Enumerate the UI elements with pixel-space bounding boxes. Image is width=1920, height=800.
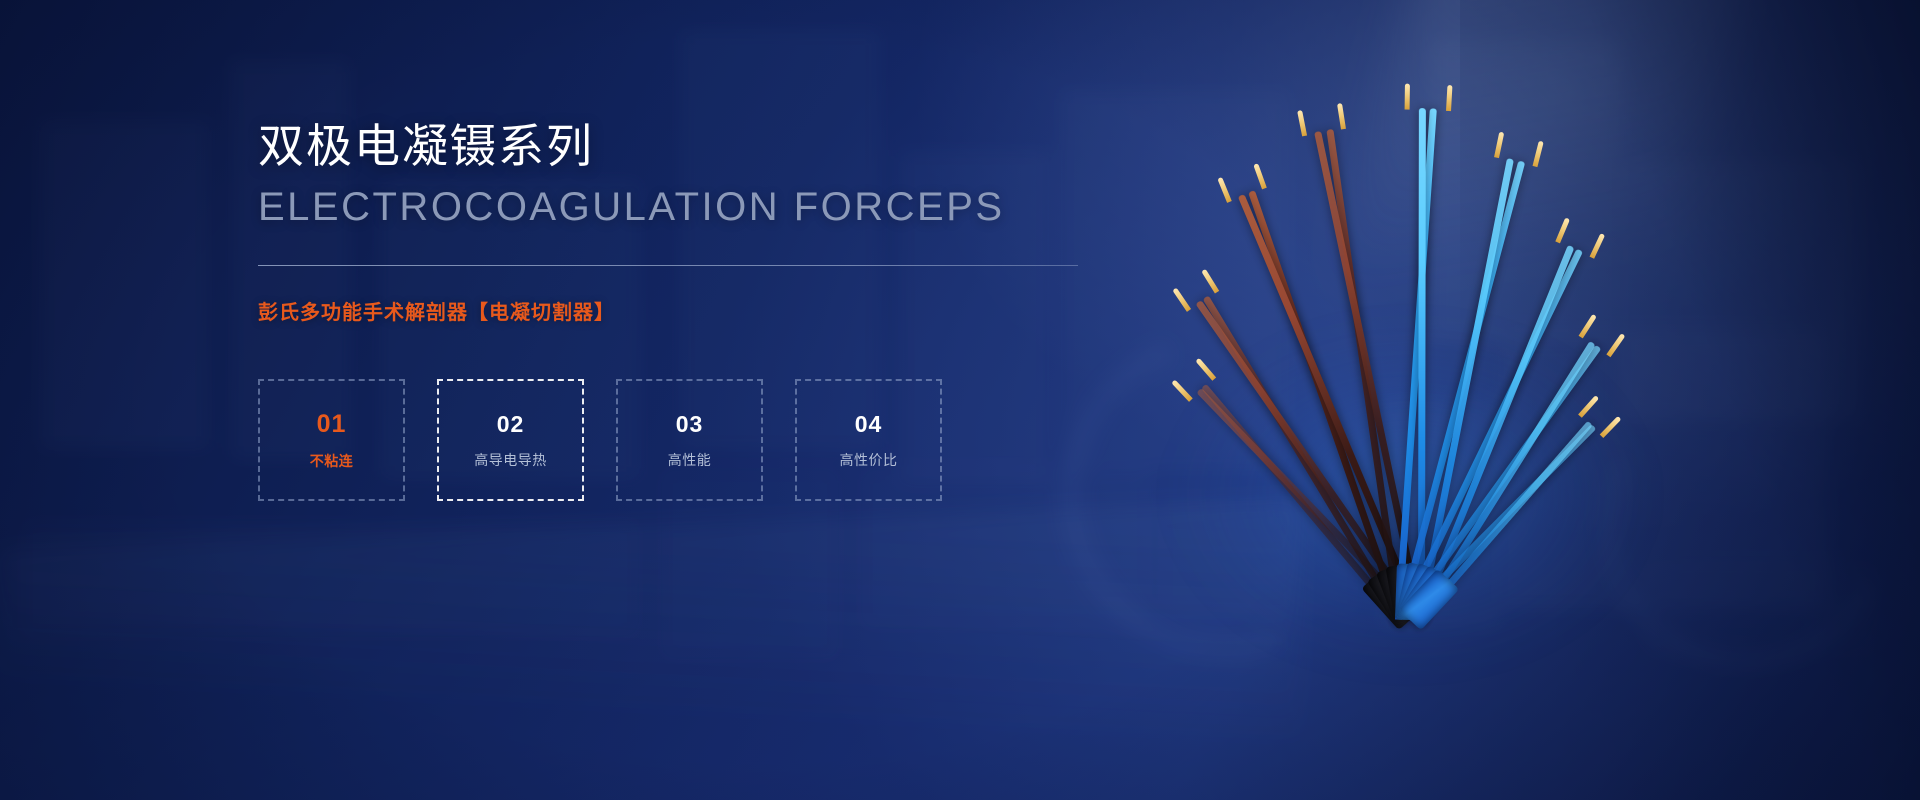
forceps-gold-tip [1555, 217, 1570, 243]
forceps-product-image [1130, 60, 1690, 620]
feature-card-02[interactable]: 02高导电导热 [437, 379, 584, 501]
forceps-gold-tip [1217, 177, 1231, 203]
forceps-gold-tip [1171, 379, 1192, 401]
page-title: 双极电凝镊系列 [258, 118, 1088, 174]
banner-content: 双极电凝镊系列 ELECTROCOAGULATION FORCEPS 彭氏多功能… [258, 118, 1088, 501]
feature-number: 02 [497, 413, 525, 436]
forceps-gold-tip [1172, 288, 1191, 312]
forceps-gold-tip [1579, 314, 1597, 339]
forceps-gold-tip [1201, 269, 1219, 294]
forceps-gold-tip [1446, 85, 1452, 111]
forceps-gold-tip [1600, 416, 1622, 438]
feature-label: 高性能 [668, 453, 712, 467]
forceps-gold-tip [1578, 395, 1599, 418]
feature-card-03[interactable]: 03高性能 [616, 379, 763, 501]
page-subtitle-en: ELECTROCOAGULATION FORCEPS [258, 184, 1088, 231]
title-divider [258, 265, 1078, 266]
product-banner: 双极电凝镊系列 ELECTROCOAGULATION FORCEPS 彭氏多功能… [0, 0, 1920, 800]
forceps-gold-tip [1590, 233, 1606, 259]
forceps-gold-tip [1337, 103, 1346, 129]
feature-number: 03 [676, 413, 704, 436]
feature-label: 高性价比 [840, 453, 898, 467]
feature-number: 01 [317, 412, 347, 437]
feature-card-01[interactable]: 01不粘连 [258, 379, 405, 501]
feature-card-04[interactable]: 04高性价比 [795, 379, 942, 501]
forceps-gold-tip [1253, 163, 1267, 189]
feature-number: 04 [855, 413, 883, 436]
forceps-gold-tip [1606, 333, 1625, 357]
forceps-gold-tip [1533, 141, 1544, 167]
feature-list: 01不粘连02高导电导热03高性能04高性价比 [258, 379, 1088, 501]
product-tagline: 彭氏多功能手术解剖器【电凝切割器】 [258, 296, 1088, 325]
feature-label: 不粘连 [310, 454, 354, 468]
forceps-gold-tip [1405, 84, 1410, 110]
forceps-gold-tip [1297, 110, 1307, 136]
forceps-gold-tip [1494, 132, 1504, 158]
feature-label: 高导电导热 [474, 453, 547, 467]
